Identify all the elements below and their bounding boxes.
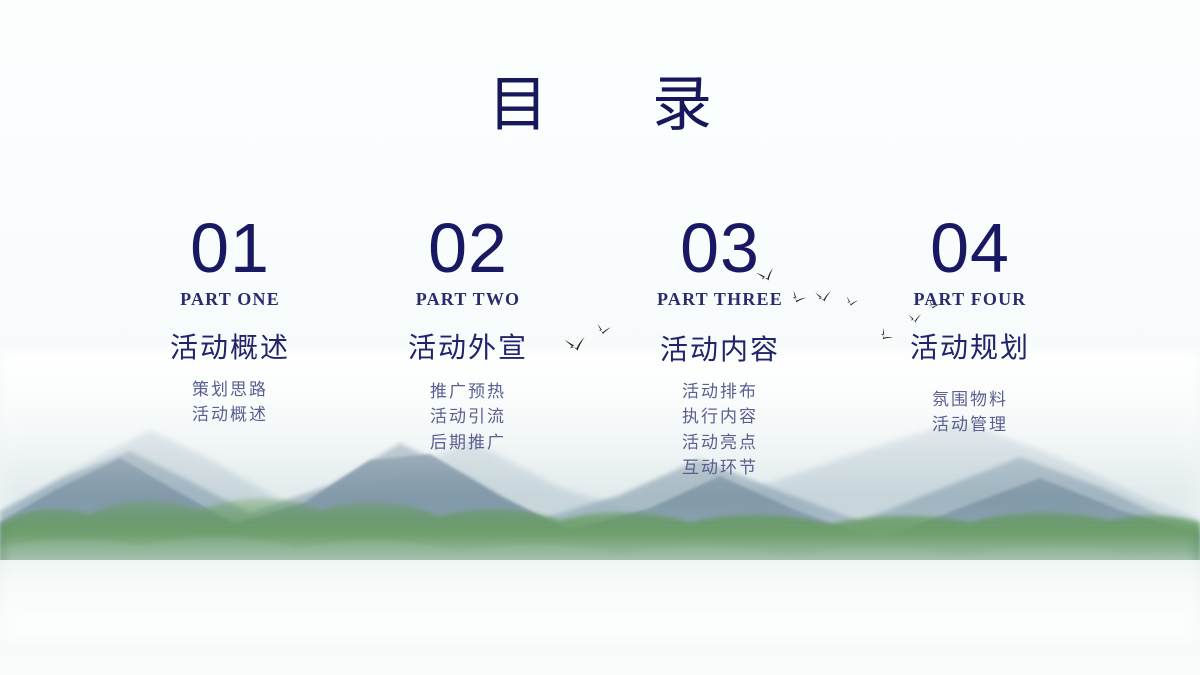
toc-sub-item: 活动管理 (845, 413, 1095, 439)
toc-item-list: 推广预热 活动引流 后期推广 (343, 380, 593, 457)
toc-part-label: PART THREE (595, 289, 845, 310)
toc-part-label: PART ONE (105, 289, 355, 310)
toc-sub-item: 活动排布 (595, 380, 845, 406)
toc-sub-item: 执行内容 (595, 405, 845, 431)
toc-part-label: PART TWO (343, 289, 593, 310)
toc-sub-item: 后期推广 (343, 431, 593, 457)
toc-number: 03 (595, 214, 845, 283)
toc-heading: 活动概述 (105, 326, 355, 366)
toc-entry-03[interactable]: 03 PART THREE 活动内容 活动排布 执行内容 活动亮点 互动环节 (595, 214, 845, 482)
toc-sub-item: 互动环节 (595, 456, 845, 482)
toc-sub-item: 推广预热 (343, 380, 593, 406)
page-title: 目 录 (0, 72, 1200, 138)
toc-number: 01 (105, 214, 355, 283)
toc-sub-item: 活动概述 (105, 403, 355, 429)
toc-sub-item: 策划思路 (105, 378, 355, 404)
toc-number: 02 (343, 214, 593, 283)
toc-sub-item: 活动亮点 (595, 431, 845, 457)
toc-columns: 01 PART ONE 活动概述 策划思路 活动概述 02 PART TWO 活… (0, 214, 1200, 514)
toc-item-list: 策划思路 活动概述 (105, 378, 355, 429)
toc-part-label: PART FOUR (845, 289, 1095, 310)
presentation-slide: 目 录 01 PART ONE 活动概述 策划思路 活动概述 02 PART T… (0, 0, 1200, 675)
toc-sub-item: 氛围物料 (845, 388, 1095, 414)
toc-heading: 活动外宣 (343, 326, 593, 366)
toc-entry-04[interactable]: 04 PART FOUR 活动规划 氛围物料 活动管理 (845, 214, 1095, 439)
toc-item-list: 活动排布 执行内容 活动亮点 互动环节 (595, 380, 845, 482)
toc-number: 04 (845, 214, 1095, 283)
toc-item-list: 氛围物料 活动管理 (845, 388, 1095, 439)
toc-entry-01[interactable]: 01 PART ONE 活动概述 策划思路 活动概述 (105, 214, 355, 429)
low-mist-overlay (0, 520, 1200, 640)
toc-sub-item: 活动引流 (343, 405, 593, 431)
toc-heading: 活动规划 (845, 326, 1095, 366)
toc-heading: 活动内容 (595, 328, 845, 368)
toc-entry-02[interactable]: 02 PART TWO 活动外宣 推广预热 活动引流 后期推广 (343, 214, 593, 456)
